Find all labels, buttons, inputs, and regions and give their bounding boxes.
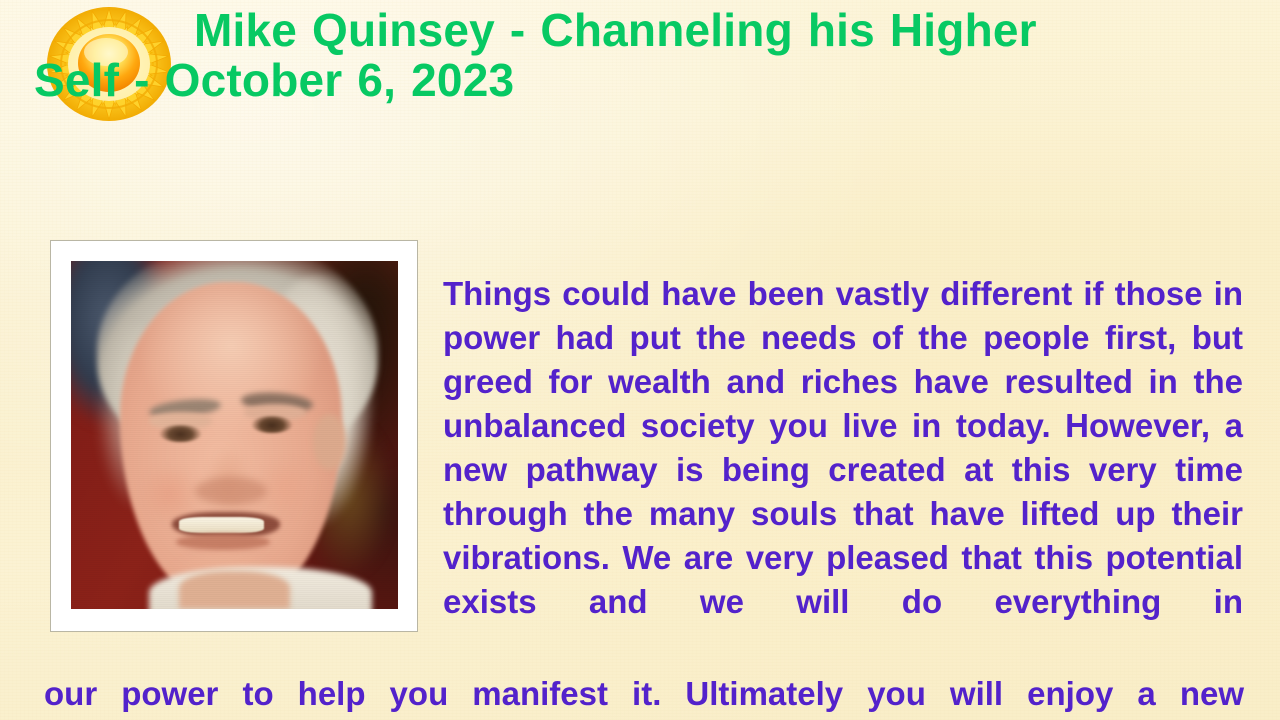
photo-grain-overlay (71, 261, 398, 609)
body-text-column: Things could have been vastly different … (443, 272, 1243, 624)
body-text-fullwidth: our power to help you manifest it. Ultim… (44, 672, 1244, 716)
heading-icon-spacer (34, 36, 194, 46)
slide-heading: Mike Quinsey - Channeling his Higher Sel… (34, 6, 1249, 105)
slide-canvas: Mike Quinsey - Channeling his Higher Sel… (0, 0, 1280, 720)
heading-line-2: Self - October 6, 2023 (34, 56, 1249, 106)
body-paragraph-column: Things could have been vastly different … (443, 272, 1243, 624)
body-paragraph-fullwidth: our power to help you manifest it. Ultim… (44, 672, 1244, 716)
heading-line-1: Mike Quinsey - Channeling his Higher (34, 6, 1249, 56)
portrait-photo-frame (50, 240, 418, 632)
portrait-photo (71, 261, 398, 609)
heading-line-1-text: Mike Quinsey - Channeling his Higher (194, 4, 1037, 56)
